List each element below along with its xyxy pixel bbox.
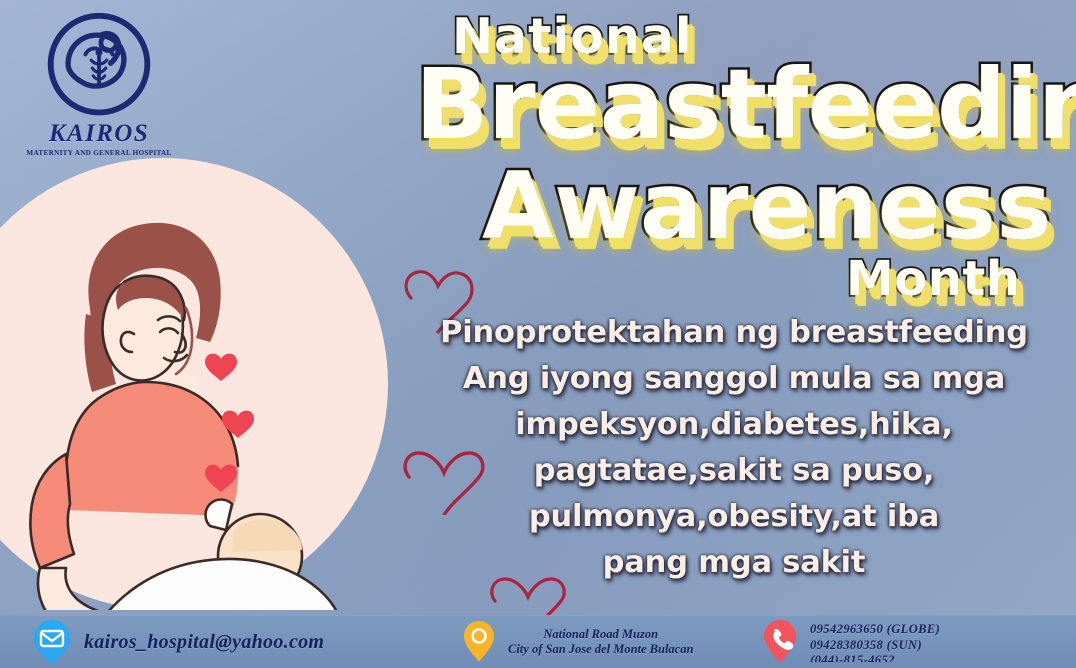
footer-address-line1: National Road Muzon	[508, 627, 693, 642]
body-line: Pinoprotektahan ng breastfeeding	[404, 310, 1064, 356]
brand-tagline: MATERNITY AND GENERAL HOSPITAL	[14, 149, 184, 157]
envelope-pin-icon	[30, 616, 74, 668]
body-line: Ang iyong sanggol mula sa mga	[404, 356, 1064, 402]
poster-canvas: KAIROS MATERNITY AND GENERAL HOSPITAL	[0, 0, 1076, 668]
location-pin-icon	[460, 618, 498, 666]
headline-month: Month	[846, 251, 1021, 307]
body-line: pulmonya,obesity,at iba	[404, 494, 1064, 540]
footer-phone-line1: 09542963650 (GLOBE)	[810, 622, 940, 638]
phone-pin-icon	[760, 617, 800, 667]
footer-email-text: kairos_hospital@yahoo.com	[84, 631, 324, 654]
brand-name: KAIROS	[14, 120, 184, 148]
illustration-artwork	[0, 158, 388, 610]
body-line: impeksyon,diabetes,hika,	[404, 402, 1064, 448]
footer-email-group[interactable]: kairos_hospital@yahoo.com	[30, 616, 460, 668]
headline-breastfeeding: Breastfeeding	[415, 48, 1076, 161]
headline-awareness: Awareness	[482, 152, 1052, 260]
footer-phone-line2: 09428380358 (SUN)	[810, 638, 940, 654]
body-line: pagtatae,sakit sa puso,	[404, 448, 1064, 494]
contact-footer-bar: kairos_hospital@yahoo.com National Road …	[0, 615, 1076, 668]
footer-phone-group[interactable]: 09542963650 (GLOBE) 09428380358 (SUN) (0…	[760, 616, 1076, 668]
footer-phone-line3: (044)-815-4652	[810, 653, 940, 662]
footer-address-line2: City of San Jose del Monte Bulacan	[508, 642, 693, 657]
body-line: pang mga sakit	[404, 540, 1064, 586]
footer-address-group[interactable]: National Road Muzon City of San Jose del…	[460, 616, 760, 668]
brand-logo: KAIROS MATERNITY AND GENERAL HOSPITAL	[14, 10, 184, 157]
kairos-mother-baby-caduceus-logo-icon	[41, 10, 157, 126]
body-copy-block: Pinoprotektahan ng breastfeeding Ang iyo…	[404, 310, 1064, 586]
mother-breastfeeding-baby-illustration	[0, 158, 388, 610]
